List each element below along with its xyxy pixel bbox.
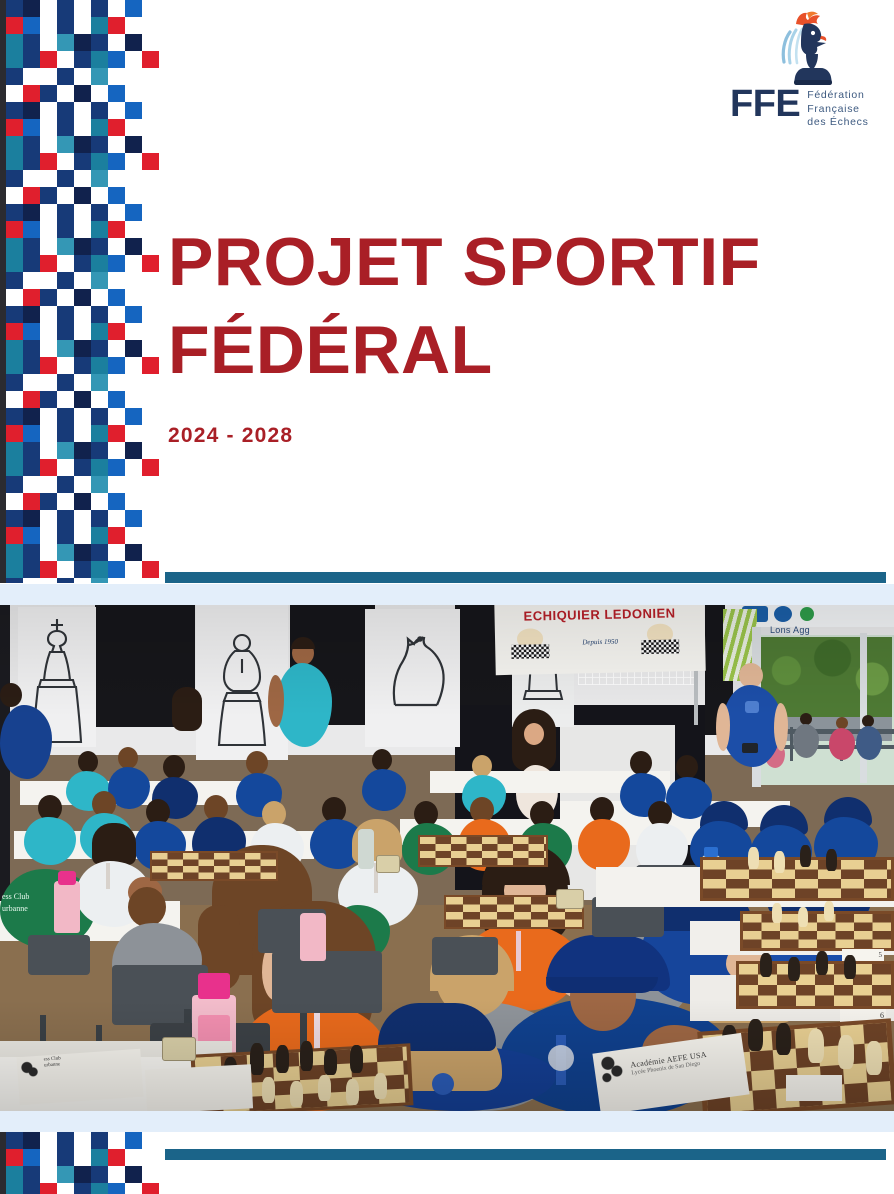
mosaic-cell xyxy=(6,476,23,493)
pale-strip-bottom xyxy=(0,1111,894,1132)
mosaic-cell xyxy=(74,85,91,102)
mosaic-cell xyxy=(57,1166,74,1183)
mosaic-cell xyxy=(108,1183,125,1194)
mosaic-cell xyxy=(40,1183,57,1194)
mosaic-cell xyxy=(74,34,91,51)
mosaic-cell xyxy=(125,442,142,459)
mosaic-cell xyxy=(125,510,142,527)
mosaic-cell xyxy=(142,1183,159,1194)
logo-subtitle-line-3: des Échecs xyxy=(807,116,868,130)
mosaic-cell xyxy=(125,136,142,153)
mosaic-cell xyxy=(23,391,40,408)
mosaic-cell xyxy=(74,391,91,408)
mosaic-cell xyxy=(142,459,159,476)
table-sign-left-detail: urbanne xyxy=(44,1063,61,1070)
mosaic-cell xyxy=(74,561,91,578)
mosaic-cell xyxy=(125,204,142,221)
mosaic-cell xyxy=(91,51,108,68)
checkerboard-mosaic-top xyxy=(0,0,172,583)
mosaic-cell xyxy=(6,527,23,544)
side-banner-logo-2 xyxy=(774,606,792,622)
event-banner-checkered-left xyxy=(511,644,549,659)
mosaic-cell xyxy=(23,187,40,204)
mosaic-cell xyxy=(6,34,23,51)
mosaic-cell xyxy=(57,408,74,425)
mosaic-cell xyxy=(23,1132,40,1149)
mosaic-cell xyxy=(125,1166,142,1183)
mosaic-cell xyxy=(125,238,142,255)
mosaic-cell xyxy=(40,187,57,204)
mosaic-cell xyxy=(74,544,91,561)
ffe-logo: FFE Fédération Française des Échecs xyxy=(722,10,890,132)
mosaic-cell xyxy=(125,0,142,17)
mosaic-cell xyxy=(23,459,40,476)
mosaic-cell xyxy=(91,221,108,238)
mosaic-cell xyxy=(40,357,57,374)
mosaic-cell xyxy=(6,578,23,583)
mosaic-cell xyxy=(108,85,125,102)
mosaic-cell xyxy=(57,102,74,119)
mosaic-cell xyxy=(6,170,23,187)
mosaic-cell xyxy=(142,255,159,272)
mosaic-cell xyxy=(6,153,23,170)
mosaic-cell xyxy=(74,289,91,306)
mosaic-cell xyxy=(6,68,23,85)
mosaic-cell xyxy=(57,306,74,323)
mosaic-left-edge xyxy=(0,0,6,583)
mosaic-cell xyxy=(108,153,125,170)
mosaic-cell xyxy=(23,51,40,68)
logo-subtitle-line-2: Française xyxy=(807,103,868,117)
mosaic-cell xyxy=(108,391,125,408)
mosaic-cell xyxy=(40,391,57,408)
mosaic-cell xyxy=(91,153,108,170)
mosaic-cell xyxy=(23,0,40,17)
mosaic-cell xyxy=(40,51,57,68)
chess-clock-mid xyxy=(556,889,584,909)
mosaic-cell xyxy=(57,578,74,583)
mosaic-cell xyxy=(6,323,23,340)
mosaic-cell xyxy=(108,527,125,544)
mosaic-cell xyxy=(91,1166,108,1183)
mosaic-cell xyxy=(108,493,125,510)
table-sign-aefe-emblem xyxy=(595,1051,629,1087)
page-subtitle-years: 2024 - 2028 xyxy=(168,424,293,448)
mosaic-cell xyxy=(74,442,91,459)
mosaic-cell xyxy=(74,357,91,374)
mosaic-cell xyxy=(91,459,108,476)
mosaic-cell xyxy=(91,68,108,85)
side-banner-logo-3 xyxy=(800,607,814,621)
mosaic-cell xyxy=(23,544,40,561)
mosaic-cell xyxy=(91,17,108,34)
chess-board-mid-right xyxy=(700,857,894,901)
mosaic-cell xyxy=(57,204,74,221)
mosaic-cell xyxy=(91,527,108,544)
mosaic-cell xyxy=(57,527,74,544)
mosaic-cell xyxy=(6,442,23,459)
mosaic-cell xyxy=(108,1149,125,1166)
mosaic-cell xyxy=(23,204,40,221)
mosaic-cell xyxy=(57,238,74,255)
mosaic-cell xyxy=(91,442,108,459)
mosaic-cell xyxy=(74,1183,91,1194)
rooster-chess-piece-mark xyxy=(760,10,846,86)
mosaic-cell xyxy=(91,578,108,583)
mosaic-cell xyxy=(23,153,40,170)
mosaic-cell xyxy=(108,459,125,476)
mosaic-cell xyxy=(23,408,40,425)
mosaic-cell xyxy=(91,119,108,136)
mosaic-cell xyxy=(23,1149,40,1166)
mosaic-cell xyxy=(23,102,40,119)
mosaic-cell xyxy=(6,1149,23,1166)
mosaic-cell xyxy=(142,153,159,170)
mosaic-cell xyxy=(142,51,159,68)
mosaic-cell xyxy=(74,340,91,357)
mosaic-cell xyxy=(23,1166,40,1183)
mosaic-cell xyxy=(23,255,40,272)
mosaic-cell xyxy=(108,119,125,136)
mosaic-cell xyxy=(108,51,125,68)
mosaic-cell xyxy=(74,153,91,170)
mosaic-cell xyxy=(6,1132,23,1149)
mosaic-cell xyxy=(40,493,57,510)
mosaic-cell xyxy=(74,238,91,255)
mosaic-cell xyxy=(40,459,57,476)
mosaic-cell xyxy=(108,221,125,238)
mosaic-cell xyxy=(125,1132,142,1149)
mosaic-cell xyxy=(6,357,23,374)
teal-rule-bottom xyxy=(165,1149,886,1160)
mosaic-cell xyxy=(23,527,40,544)
mosaic-cell xyxy=(6,374,23,391)
logo-subtitle: Fédération Française des Échecs xyxy=(807,86,868,130)
mosaic-cell xyxy=(125,408,142,425)
mosaic-cell xyxy=(40,289,57,306)
page-title: PROJET SPORTIF FÉDÉRAL xyxy=(168,218,828,395)
mosaic-cell xyxy=(6,238,23,255)
youth-chess-tournament-photo: ECHIQUIER LEDONIEN Depuis 1950 Lons Agg xyxy=(0,605,894,1111)
mosaic-cell xyxy=(57,221,74,238)
mosaic-cell xyxy=(6,340,23,357)
logo-acronym: FFE xyxy=(730,86,800,122)
mosaic-cell xyxy=(57,510,74,527)
mosaic-cell xyxy=(91,272,108,289)
logo-subtitle-line-1: Fédération xyxy=(807,89,868,103)
mosaic-cell xyxy=(40,85,57,102)
document-cover-page: FFE Fédération Française des Échecs PROJ… xyxy=(0,0,894,1194)
mosaic-cell xyxy=(57,425,74,442)
mosaic-cell xyxy=(57,1149,74,1166)
mosaic-cell xyxy=(6,119,23,136)
mosaic-cell xyxy=(91,357,108,374)
mosaic-cell xyxy=(57,0,74,17)
mosaic-cell xyxy=(23,323,40,340)
mosaic-cell xyxy=(74,255,91,272)
mosaic-cell xyxy=(40,561,57,578)
mosaic-cell xyxy=(57,272,74,289)
mosaic-cell xyxy=(74,493,91,510)
mosaic-cell xyxy=(91,238,108,255)
mosaic-cell xyxy=(23,1183,40,1194)
mosaic-cell xyxy=(57,476,74,493)
mosaic-cell xyxy=(57,374,74,391)
mosaic-cell xyxy=(6,272,23,289)
mosaic-cell xyxy=(57,442,74,459)
mosaic-cell xyxy=(125,544,142,561)
mosaic-cell xyxy=(91,561,108,578)
mosaic-cell xyxy=(91,340,108,357)
page-title-line-1: PROJET SPORTIF xyxy=(168,218,828,306)
mosaic-cell xyxy=(57,340,74,357)
mosaic-cell xyxy=(91,102,108,119)
side-banner-text: Lons Agg xyxy=(770,625,860,635)
mosaic-cell xyxy=(23,357,40,374)
mosaic-cell xyxy=(74,187,91,204)
mosaic-cell xyxy=(23,221,40,238)
mosaic-cell xyxy=(108,289,125,306)
checkerboard-mosaic-bottom xyxy=(0,1132,172,1194)
mosaic-cell xyxy=(57,136,74,153)
mosaic-cell xyxy=(6,136,23,153)
mosaic-cell xyxy=(6,544,23,561)
mosaic-cell xyxy=(6,408,23,425)
mosaic-cell xyxy=(57,17,74,34)
mosaic-cell xyxy=(23,425,40,442)
mosaic-cell xyxy=(142,357,159,374)
mosaic-cell xyxy=(108,187,125,204)
chess-board-back-2 xyxy=(150,851,278,881)
mosaic-cell xyxy=(23,85,40,102)
mosaic-cell xyxy=(57,170,74,187)
table-sign-right-extra xyxy=(786,1075,842,1101)
mosaic-cell xyxy=(108,255,125,272)
mosaic-cell xyxy=(6,221,23,238)
mosaic-cell xyxy=(23,493,40,510)
chess-board-back-1 xyxy=(418,835,548,867)
mosaic-cell xyxy=(91,1149,108,1166)
table-sign-left-emblem xyxy=(19,1058,42,1081)
mosaic-cell xyxy=(6,255,23,272)
mosaic-cell xyxy=(6,0,23,17)
knight-silhouette-banner xyxy=(365,609,460,747)
mosaic-cell xyxy=(91,204,108,221)
logo-wordmark: FFE Fédération Française des Échecs xyxy=(730,86,869,130)
mosaic-cell xyxy=(23,306,40,323)
mosaic-cell xyxy=(125,34,142,51)
mosaic-cell xyxy=(125,340,142,357)
mosaic-cell xyxy=(91,374,108,391)
mosaic-cell xyxy=(125,102,142,119)
table-sign-left: ess Club urbanne xyxy=(16,1049,143,1106)
mosaic-cell xyxy=(74,51,91,68)
mosaic-cell xyxy=(6,102,23,119)
mosaic-cell xyxy=(108,561,125,578)
mosaic-cell xyxy=(91,1183,108,1194)
mosaic-cell xyxy=(23,238,40,255)
mosaic-cell xyxy=(91,170,108,187)
mosaic-cell xyxy=(23,34,40,51)
mosaic-cell xyxy=(6,425,23,442)
mosaic-cell xyxy=(6,1183,23,1194)
chess-clock-left xyxy=(162,1037,196,1061)
mosaic-cell xyxy=(91,0,108,17)
mosaic-cell xyxy=(91,34,108,51)
mosaic-cell xyxy=(125,306,142,323)
mosaic-cell xyxy=(91,306,108,323)
mosaic-cell xyxy=(6,51,23,68)
mosaic-cell xyxy=(74,459,91,476)
teal-rule-top xyxy=(165,572,886,583)
mosaic-cell xyxy=(91,255,108,272)
event-banner-checkered-right xyxy=(641,639,679,654)
mosaic-cell xyxy=(40,255,57,272)
mosaic-cell xyxy=(40,153,57,170)
mosaic-cell xyxy=(57,323,74,340)
mosaic-cell xyxy=(23,289,40,306)
mosaic-cell xyxy=(23,442,40,459)
mosaic-cell xyxy=(23,136,40,153)
mosaic-cell xyxy=(57,544,74,561)
mosaic-cell xyxy=(6,561,23,578)
mosaic-cell xyxy=(91,136,108,153)
mosaic-cell xyxy=(108,323,125,340)
mosaic-cell xyxy=(57,68,74,85)
pale-strip-top xyxy=(0,584,894,605)
mosaic-cell xyxy=(74,136,91,153)
page-title-line-2: FÉDÉRAL xyxy=(168,306,828,394)
mosaic-cell xyxy=(23,340,40,357)
mosaic-cell xyxy=(91,510,108,527)
mosaic-cell xyxy=(91,425,108,442)
mosaic-cell xyxy=(91,323,108,340)
mosaic-cell xyxy=(91,544,108,561)
mosaic-cell xyxy=(6,510,23,527)
mosaic-cell xyxy=(23,119,40,136)
mosaic-cell xyxy=(23,561,40,578)
mosaic-cell xyxy=(6,17,23,34)
mosaic-cell xyxy=(23,17,40,34)
chess-clock-back xyxy=(376,855,400,873)
event-banner-title: ECHIQUIER LEDONIEN xyxy=(494,605,704,624)
mosaic-cell xyxy=(6,1166,23,1183)
mosaic-cell xyxy=(6,204,23,221)
mosaic-cell xyxy=(108,357,125,374)
mosaic-cell xyxy=(74,1166,91,1183)
mosaic-cell xyxy=(6,306,23,323)
chess-board-right-1 xyxy=(740,911,894,951)
mosaic-cell xyxy=(57,119,74,136)
mosaic-cell xyxy=(91,408,108,425)
mosaic-cell xyxy=(57,1132,74,1149)
mosaic-cell xyxy=(91,1132,108,1149)
mosaic-cell xyxy=(108,425,125,442)
mosaic-cell xyxy=(91,476,108,493)
event-banner: ECHIQUIER LEDONIEN Depuis 1950 xyxy=(494,605,706,675)
table-sign-left-2 xyxy=(145,1064,253,1111)
mosaic-cell xyxy=(23,510,40,527)
mosaic-cell xyxy=(108,17,125,34)
mosaic-cell xyxy=(57,34,74,51)
mosaic-cell xyxy=(6,459,23,476)
mosaic-cell xyxy=(142,561,159,578)
